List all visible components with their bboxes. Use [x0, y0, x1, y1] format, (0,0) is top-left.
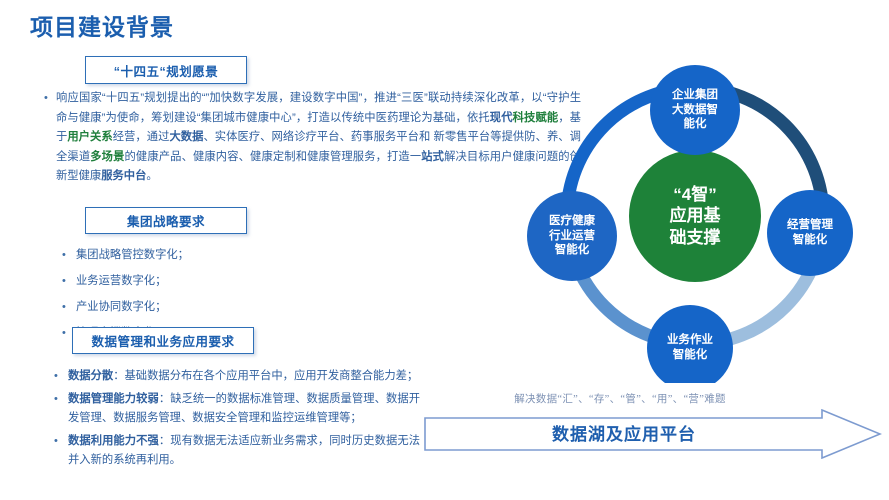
- section-header-vision-label: “十四五“规划愿景: [114, 61, 219, 80]
- vision-run-4: 用户关系: [67, 131, 112, 143]
- list-item: •数据分散：基础数据分布在各个应用平台中，应用开发商整合能力差；: [54, 367, 420, 387]
- vision-run-6: 大数据: [169, 131, 203, 143]
- list-item-label: 数据利用能力不强：现有数据无法适应新业务需求，同时历史数据无法并入新的系统再利用…: [68, 432, 420, 471]
- vision-run-5: 经营，通过: [113, 131, 170, 143]
- vision-run-13: 。: [146, 170, 157, 182]
- list-item: •业务运营数字化；: [62, 272, 312, 292]
- section-header-strategy: 集团战略要求: [85, 207, 247, 234]
- list-item: •数据管理能力较弱：缺乏统一的数据标准管理、数据质量管理、数据开发管理、数据服务…: [54, 390, 420, 429]
- list-item-label: 集团战略管控数字化；: [76, 246, 312, 266]
- node-circle-left: [527, 191, 617, 281]
- section-header-vision: “十四五“规划愿景: [85, 56, 247, 84]
- page-title: 项目建设背景: [30, 14, 174, 42]
- center-circle-node: [629, 150, 761, 282]
- list-item: •数据利用能力不强：现有数据无法适应新业务需求，同时历史数据无法并入新的系统再利…: [54, 432, 420, 471]
- vision-run-10: 站式: [421, 151, 444, 163]
- list-item-lead: 数据分散: [68, 370, 113, 382]
- node-circle-top: [650, 65, 740, 155]
- vision-run-12: 服务中台: [101, 170, 146, 182]
- bullet-dot-icon: •: [62, 246, 76, 266]
- vision-run-8: 多场景: [90, 151, 124, 163]
- list-item-label: 数据管理能力较弱：缺乏统一的数据标准管理、数据质量管理、数据开发管理、数据服务管…: [68, 390, 420, 429]
- node-circle-bottom: [647, 305, 733, 383]
- section-header-data-requirements: 数据管理和业务应用要求: [72, 327, 254, 354]
- arrow-label-text: 数据湖及应用平台: [424, 420, 824, 445]
- list-item: •产业协同数字化；: [62, 298, 312, 318]
- slide-canvas: 项目建设背景 “十四五“规划愿景 • 响应国家“十四五”规划提出的“”加快数字发…: [0, 0, 889, 500]
- data-requirements-bullet-list: •数据分散：基础数据分布在各个应用平台中，应用开发商整合能力差；•数据管理能力较…: [54, 367, 420, 474]
- arrow-caption-text: 解决数据“汇”、“存”、“管”、“用”、“营”难题: [455, 391, 785, 406]
- bullet-dot-icon: •: [62, 272, 76, 292]
- section-header-strategy-label: 集团战略要求: [127, 211, 205, 230]
- list-item-lead: 数据利用能力不强: [68, 435, 159, 447]
- four-smart-circular-diagram: “4智”应用基础支撑 企业集团大数据智能化 经营管理智能化 业务作业智能化 医疗…: [500, 48, 889, 383]
- bullet-dot-icon: •: [62, 298, 76, 318]
- diagram-svg: [500, 48, 889, 383]
- node-circle-right: [767, 190, 853, 276]
- bullet-dot-icon: •: [54, 432, 68, 452]
- list-item: •集团战略管控数字化；: [62, 246, 312, 266]
- bullet-dot-icon: •: [54, 367, 68, 387]
- bullet-dot-icon: •: [44, 89, 56, 109]
- bullet-dot-icon: •: [54, 390, 68, 410]
- list-item-label: 业务运营数字化；: [76, 272, 312, 292]
- list-item-label: 数据分散：基础数据分布在各个应用平台中，应用开发商整合能力差；: [68, 367, 420, 387]
- list-item-label: 产业协同数字化；: [76, 298, 312, 318]
- vision-run-9: 的健康产品、健康内容、健康定制和健康管理服务，打造一: [125, 151, 422, 163]
- list-item-lead: 数据管理能力较弱: [68, 393, 159, 405]
- section-header-data-requirements-label: 数据管理和业务应用要求: [91, 331, 234, 350]
